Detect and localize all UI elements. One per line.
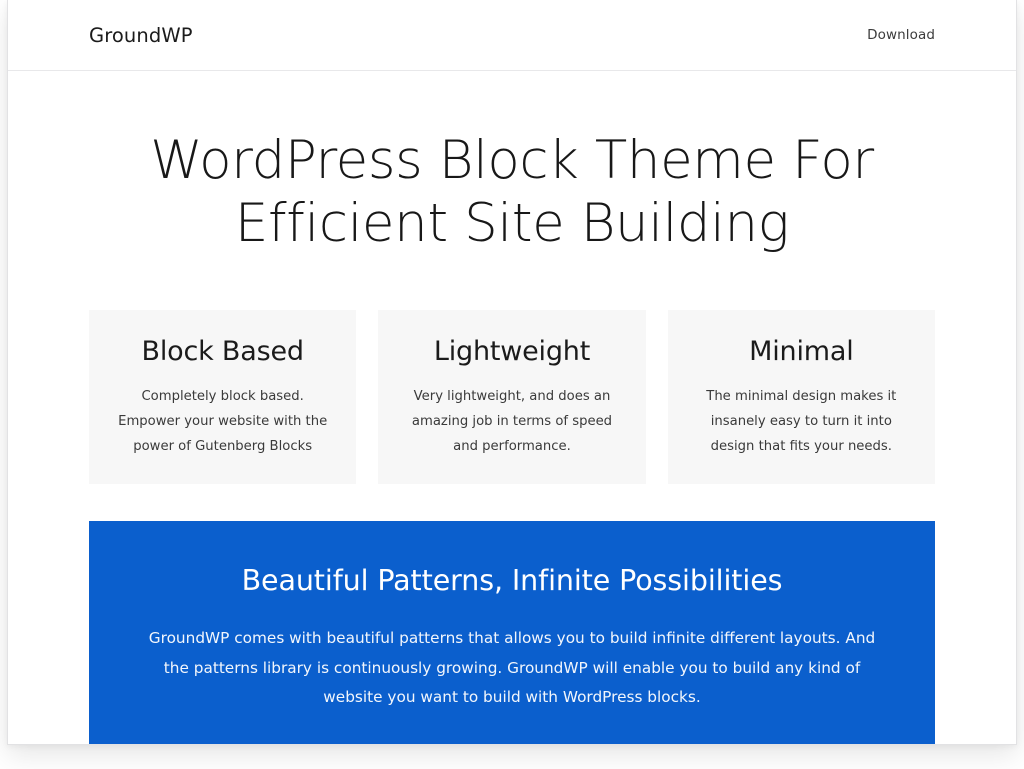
feature-card-minimal: Minimal The minimal design makes it insa… [668, 310, 935, 483]
site-header: GroundWP Download [8, 0, 1016, 71]
main-content: WordPress Block Theme For Efficient Site… [8, 129, 1016, 745]
feature-card-block-based: Block Based Completely block based. Empo… [89, 310, 356, 483]
feature-card-description: The minimal design makes it insanely eas… [690, 384, 913, 460]
nav-link-download[interactable]: Download [867, 27, 935, 43]
feature-card-lightweight: Lightweight Very lightweight, and does a… [378, 310, 645, 483]
site-title[interactable]: GroundWP [89, 24, 193, 47]
feature-card-description: Very lightweight, and does an amazing jo… [400, 384, 623, 460]
screenshot-viewport: GroundWP Download WordPress Block Theme … [0, 0, 1024, 769]
hero-heading: WordPress Block Theme For Efficient Site… [89, 129, 935, 255]
browser-page-frame: GroundWP Download WordPress Block Theme … [7, 0, 1017, 745]
feature-card-title: Block Based [111, 336, 334, 368]
patterns-banner-description: GroundWP comes with beautiful patterns t… [147, 624, 877, 712]
feature-card-description: Completely block based. Empower your web… [111, 384, 334, 460]
patterns-banner: Beautiful Patterns, Infinite Possibiliti… [89, 521, 935, 745]
feature-card-title: Lightweight [400, 336, 623, 368]
patterns-banner-title: Beautiful Patterns, Infinite Possibiliti… [147, 563, 877, 599]
feature-card-group: Block Based Completely block based. Empo… [89, 310, 935, 483]
primary-navigation: Download [867, 27, 935, 43]
feature-card-title: Minimal [690, 336, 913, 368]
